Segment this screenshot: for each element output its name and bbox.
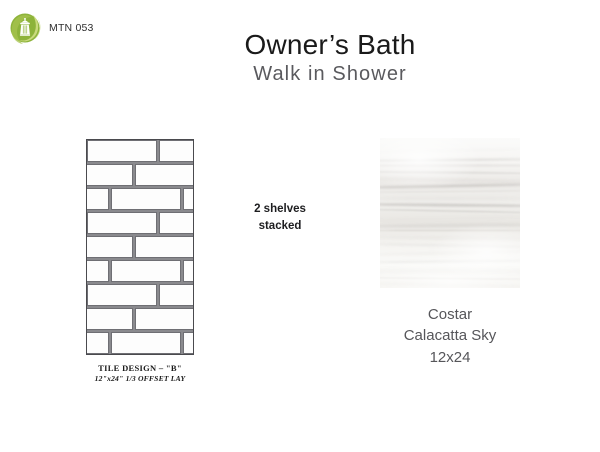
- tile-unit: [159, 140, 194, 162]
- tile-unit: [86, 164, 133, 186]
- tile-unit: [183, 260, 194, 282]
- tile-caption-line-1: TILE DESIGN – "B": [86, 363, 194, 373]
- tile-unit: [86, 260, 109, 282]
- page-title: Owner’s Bath: [120, 30, 540, 60]
- tile-unit: [159, 212, 194, 234]
- tile-unit: [86, 188, 109, 210]
- tile-layout-diagram: [86, 139, 194, 355]
- tile-unit: [111, 188, 181, 210]
- tile-unit: [86, 236, 133, 258]
- shelves-note-line-2: stacked: [224, 218, 336, 235]
- tile-unit: [159, 284, 194, 306]
- tile-unit: [87, 140, 157, 162]
- tile-design-panel: TILE DESIGN – "B" 12"x24" 1/3 OFFSET LAY: [86, 139, 194, 383]
- swatch-highlight-overlay: [380, 138, 520, 288]
- tile-unit: [87, 212, 157, 234]
- lantern-logo-icon: [8, 11, 42, 45]
- tile-unit: [135, 236, 194, 258]
- material-panel: Costar Calacatta Sky 12x24: [380, 138, 520, 368]
- tile-unit: [135, 164, 194, 186]
- page-subtitle: Walk in Shower: [120, 63, 540, 85]
- tile-unit: [111, 260, 181, 282]
- title-block: Owner’s Bath Walk in Shower: [120, 30, 540, 86]
- project-code-label: MTN 053: [49, 22, 94, 34]
- tile-unit: [87, 284, 157, 306]
- tile-unit: [86, 308, 133, 330]
- material-color-name: Calacatta Sky: [380, 325, 520, 346]
- material-caption: Costar Calacatta Sky 12x24: [380, 304, 520, 368]
- tile-unit: [183, 332, 194, 354]
- tile-caption: TILE DESIGN – "B" 12"x24" 1/3 OFFSET LAY: [86, 363, 194, 383]
- material-size: 12x24: [380, 347, 520, 368]
- shelves-note-line-1: 2 shelves: [224, 201, 336, 218]
- material-brand: Costar: [380, 304, 520, 325]
- tile-unit: [135, 308, 194, 330]
- brand-block: MTN 053: [8, 11, 94, 45]
- tile-unit: [111, 332, 181, 354]
- shelves-note: 2 shelves stacked: [224, 201, 336, 234]
- slide-canvas: MTN 053 Owner’s Bath Walk in Shower TILE…: [0, 0, 600, 452]
- tile-caption-line-2: 12"x24" 1/3 OFFSET LAY: [86, 374, 194, 383]
- marble-tile-swatch: [380, 138, 520, 288]
- tile-unit: [86, 332, 109, 354]
- tile-unit: [183, 188, 194, 210]
